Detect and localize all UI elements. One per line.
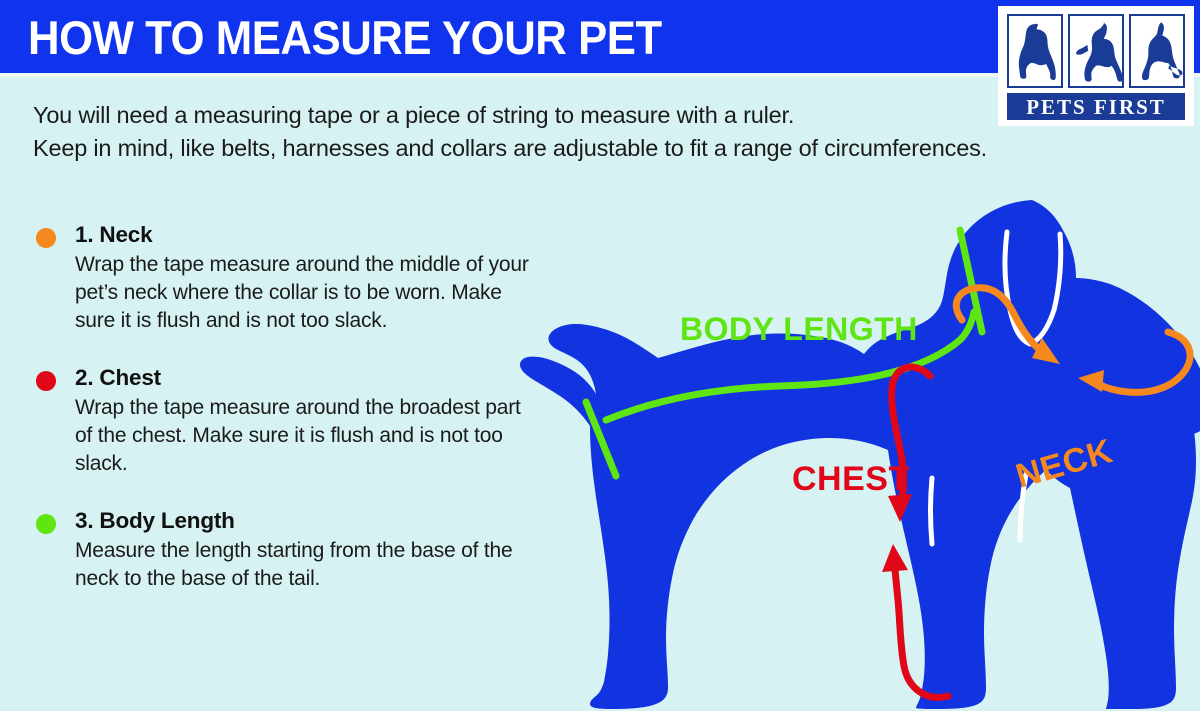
bullet-dot-body-length: [36, 514, 56, 534]
brand-logo: PETS FIRST: [998, 6, 1194, 126]
intro-text: You will need a measuring tape or a piec…: [33, 99, 973, 165]
step-title-neck: 1. Neck: [75, 220, 533, 250]
infographic-page: HOW TO MEASURE YOUR PET: [0, 0, 1200, 711]
intro-line-1: You will need a measuring tape or a piec…: [33, 99, 973, 132]
intro-line-2: Keep in mind, like belts, harnesses and …: [33, 132, 973, 165]
step-title-body-length: 3. Body Length: [75, 506, 533, 536]
dog-diagram: BODY LENGTH NECK CHEST: [520, 188, 1200, 711]
logo-panel-2: [1068, 14, 1124, 88]
step-body-neck: Wrap the tape measure around the middle …: [75, 251, 533, 335]
annotation-label-chest: CHEST: [792, 460, 910, 498]
step-title-chest: 2. Chest: [75, 363, 533, 393]
logo-panel-1: [1007, 14, 1063, 88]
logo-panel-row: [1007, 14, 1185, 88]
bullet-dot-neck: [36, 228, 56, 248]
annotation-label-body-length: BODY LENGTH: [680, 311, 918, 347]
step-body-chest: Wrap the tape measure around the broades…: [75, 394, 533, 478]
chest-arrowhead-up: [882, 544, 908, 572]
page-title: HOW TO MEASURE YOUR PET: [28, 13, 662, 63]
logo-wordmark: PETS FIRST: [1007, 93, 1185, 120]
logo-panel-3: [1129, 14, 1185, 88]
measurement-steps-list: 1. Neck Wrap the tape measure around the…: [33, 220, 533, 621]
step-item-body-length: 3. Body Length Measure the length starti…: [33, 506, 533, 593]
bullet-dot-chest: [36, 371, 56, 391]
step-item-chest: 2. Chest Wrap the tape measure around th…: [33, 363, 533, 478]
step-item-neck: 1. Neck Wrap the tape measure around the…: [33, 220, 533, 335]
step-body-body-length: Measure the length starting from the bas…: [75, 537, 533, 593]
